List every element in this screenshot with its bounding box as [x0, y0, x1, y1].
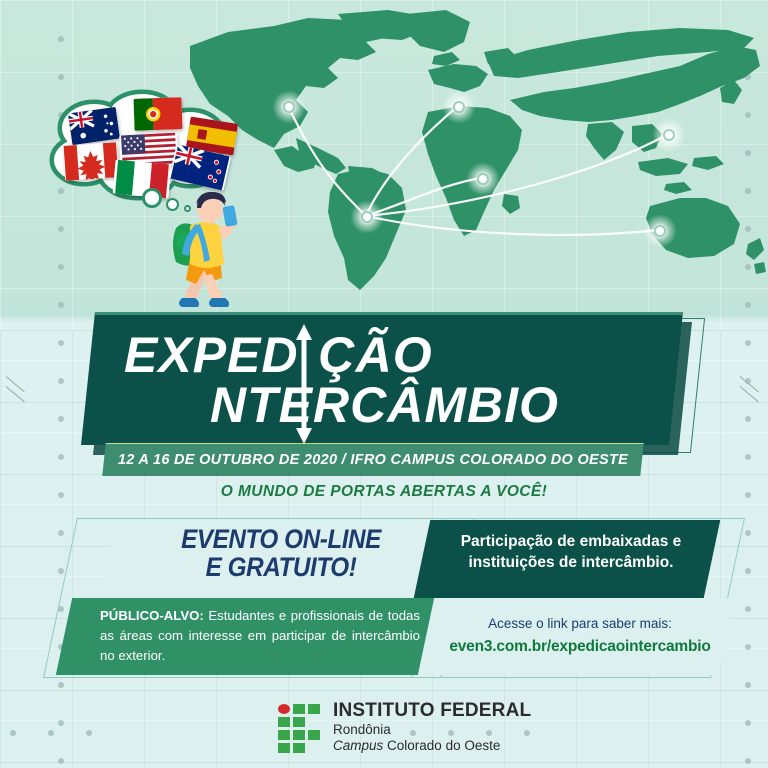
australia-flag: [68, 107, 120, 145]
dot: [58, 36, 64, 42]
bubble-dot-large: [142, 188, 162, 208]
dot: [745, 606, 751, 612]
embaixadas-text: Participação de embaixadas e instituiçõe…: [440, 532, 702, 574]
dot: [745, 416, 751, 422]
title-line-2: NTERCÂMBIO: [210, 376, 559, 434]
dot: [58, 74, 64, 80]
tagline: O MUNDO DE PORTAS ABERTAS A VOCÊ!: [0, 483, 768, 501]
dot: [58, 378, 64, 384]
title-expedicao-prefix: EXPED: [124, 327, 299, 383]
logo-red-circle: [278, 704, 290, 714]
info-panels: EVENTO ON-LINE E GRATUITO! Participação …: [78, 520, 698, 675]
event-url-link[interactable]: even3.com.br/expedicaointercambio: [436, 638, 724, 656]
panel-url: [418, 598, 734, 675]
dot: [58, 682, 64, 688]
dot: [58, 302, 64, 308]
dot: [745, 454, 751, 460]
dot: [58, 340, 64, 346]
institute-state: Rondônia: [333, 722, 531, 738]
logo-square: [293, 717, 305, 727]
evento-line-1: EVENTO ON-LINE: [151, 526, 412, 554]
dot: [58, 454, 64, 460]
evento-online-text: EVENTO ON-LINE E GRATUITO!: [151, 526, 412, 582]
map-node-africa: [466, 162, 500, 196]
dot: [745, 530, 751, 536]
map-node-australia: [643, 214, 677, 248]
double-arrow-icon: [293, 324, 315, 444]
dot: [745, 568, 751, 574]
ifro-logo-text: INSTITUTO FEDERAL Rondônia Campus Colora…: [333, 700, 531, 753]
campus-prefix: Campus: [333, 738, 383, 753]
logo-square: [293, 743, 305, 753]
dot: [58, 568, 64, 574]
dot: [745, 758, 751, 764]
dot: [745, 720, 751, 726]
poster-canvas: EXPEDÇÃO NTERCÂMBIO 12 A 16 DE OUTUBRO D…: [0, 0, 768, 768]
title-expedicao-suffix: ÇÃO: [319, 327, 433, 383]
evento-line-2: E GRATUITO!: [151, 554, 412, 582]
tick-marks-left: [6, 372, 32, 398]
tick-marks-right: [740, 372, 766, 398]
traveler-illustration: [160, 182, 250, 312]
institute-campus: Campus Colorado do Oeste: [333, 738, 531, 754]
map-node-south-america: [350, 200, 384, 234]
title-text-layer: EXPEDÇÃO NTERCÂMBIO: [88, 312, 688, 452]
dot: [58, 720, 64, 726]
logo-square: [308, 704, 320, 714]
dot: [58, 416, 64, 422]
dot: [58, 530, 64, 536]
dot: [86, 730, 92, 736]
logo-square: [278, 743, 290, 753]
dot: [58, 226, 64, 232]
dot: [10, 730, 16, 736]
dot: [58, 758, 64, 764]
logo-square: [278, 730, 290, 740]
dot: [58, 264, 64, 270]
logo-square: [308, 730, 320, 740]
logo-square: [293, 704, 305, 714]
dot: [745, 682, 751, 688]
acesse-link-label: Acesse o link para saber mais:: [444, 616, 716, 631]
dot: [745, 340, 751, 346]
dot: [48, 730, 54, 736]
date-bar-text: 12 A 16 DE OUTUBRO DE 2020 / IFRO CAMPUS…: [104, 443, 642, 476]
institute-name: INSTITUTO FEDERAL: [333, 700, 531, 722]
embaixadas-line-1: Participação de embaixadas e: [440, 532, 702, 553]
logo-square-empty: [308, 717, 320, 727]
portugal-flag: [133, 97, 182, 131]
campus-name: Colorado do Oeste: [383, 738, 500, 753]
bottom-left-dot-row: [10, 730, 92, 736]
publico-alvo-label: PÚBLICO-ALVO:: [100, 608, 204, 623]
logo-square: [278, 717, 290, 727]
ifro-footer-logo: INSTITUTO FEDERAL Rondônia Campus Colora…: [278, 700, 531, 753]
world-map: [188, 8, 768, 308]
map-node-europe: [442, 90, 476, 124]
title-intercambio-suffix: NTERCÂMBIO: [210, 377, 559, 433]
embaixadas-line-2: instituições de intercâmbio.: [440, 553, 702, 574]
canada-flag: [63, 142, 119, 181]
map-node-asia: [652, 118, 686, 152]
logo-square: [293, 730, 305, 740]
dot: [745, 644, 751, 650]
map-node-north-america: [272, 90, 306, 124]
publico-alvo-text: PÚBLICO-ALVO: Estudantes e profissionais…: [100, 606, 420, 666]
logo-square-empty: [308, 743, 320, 753]
ifro-logo-mark: [278, 704, 320, 750]
